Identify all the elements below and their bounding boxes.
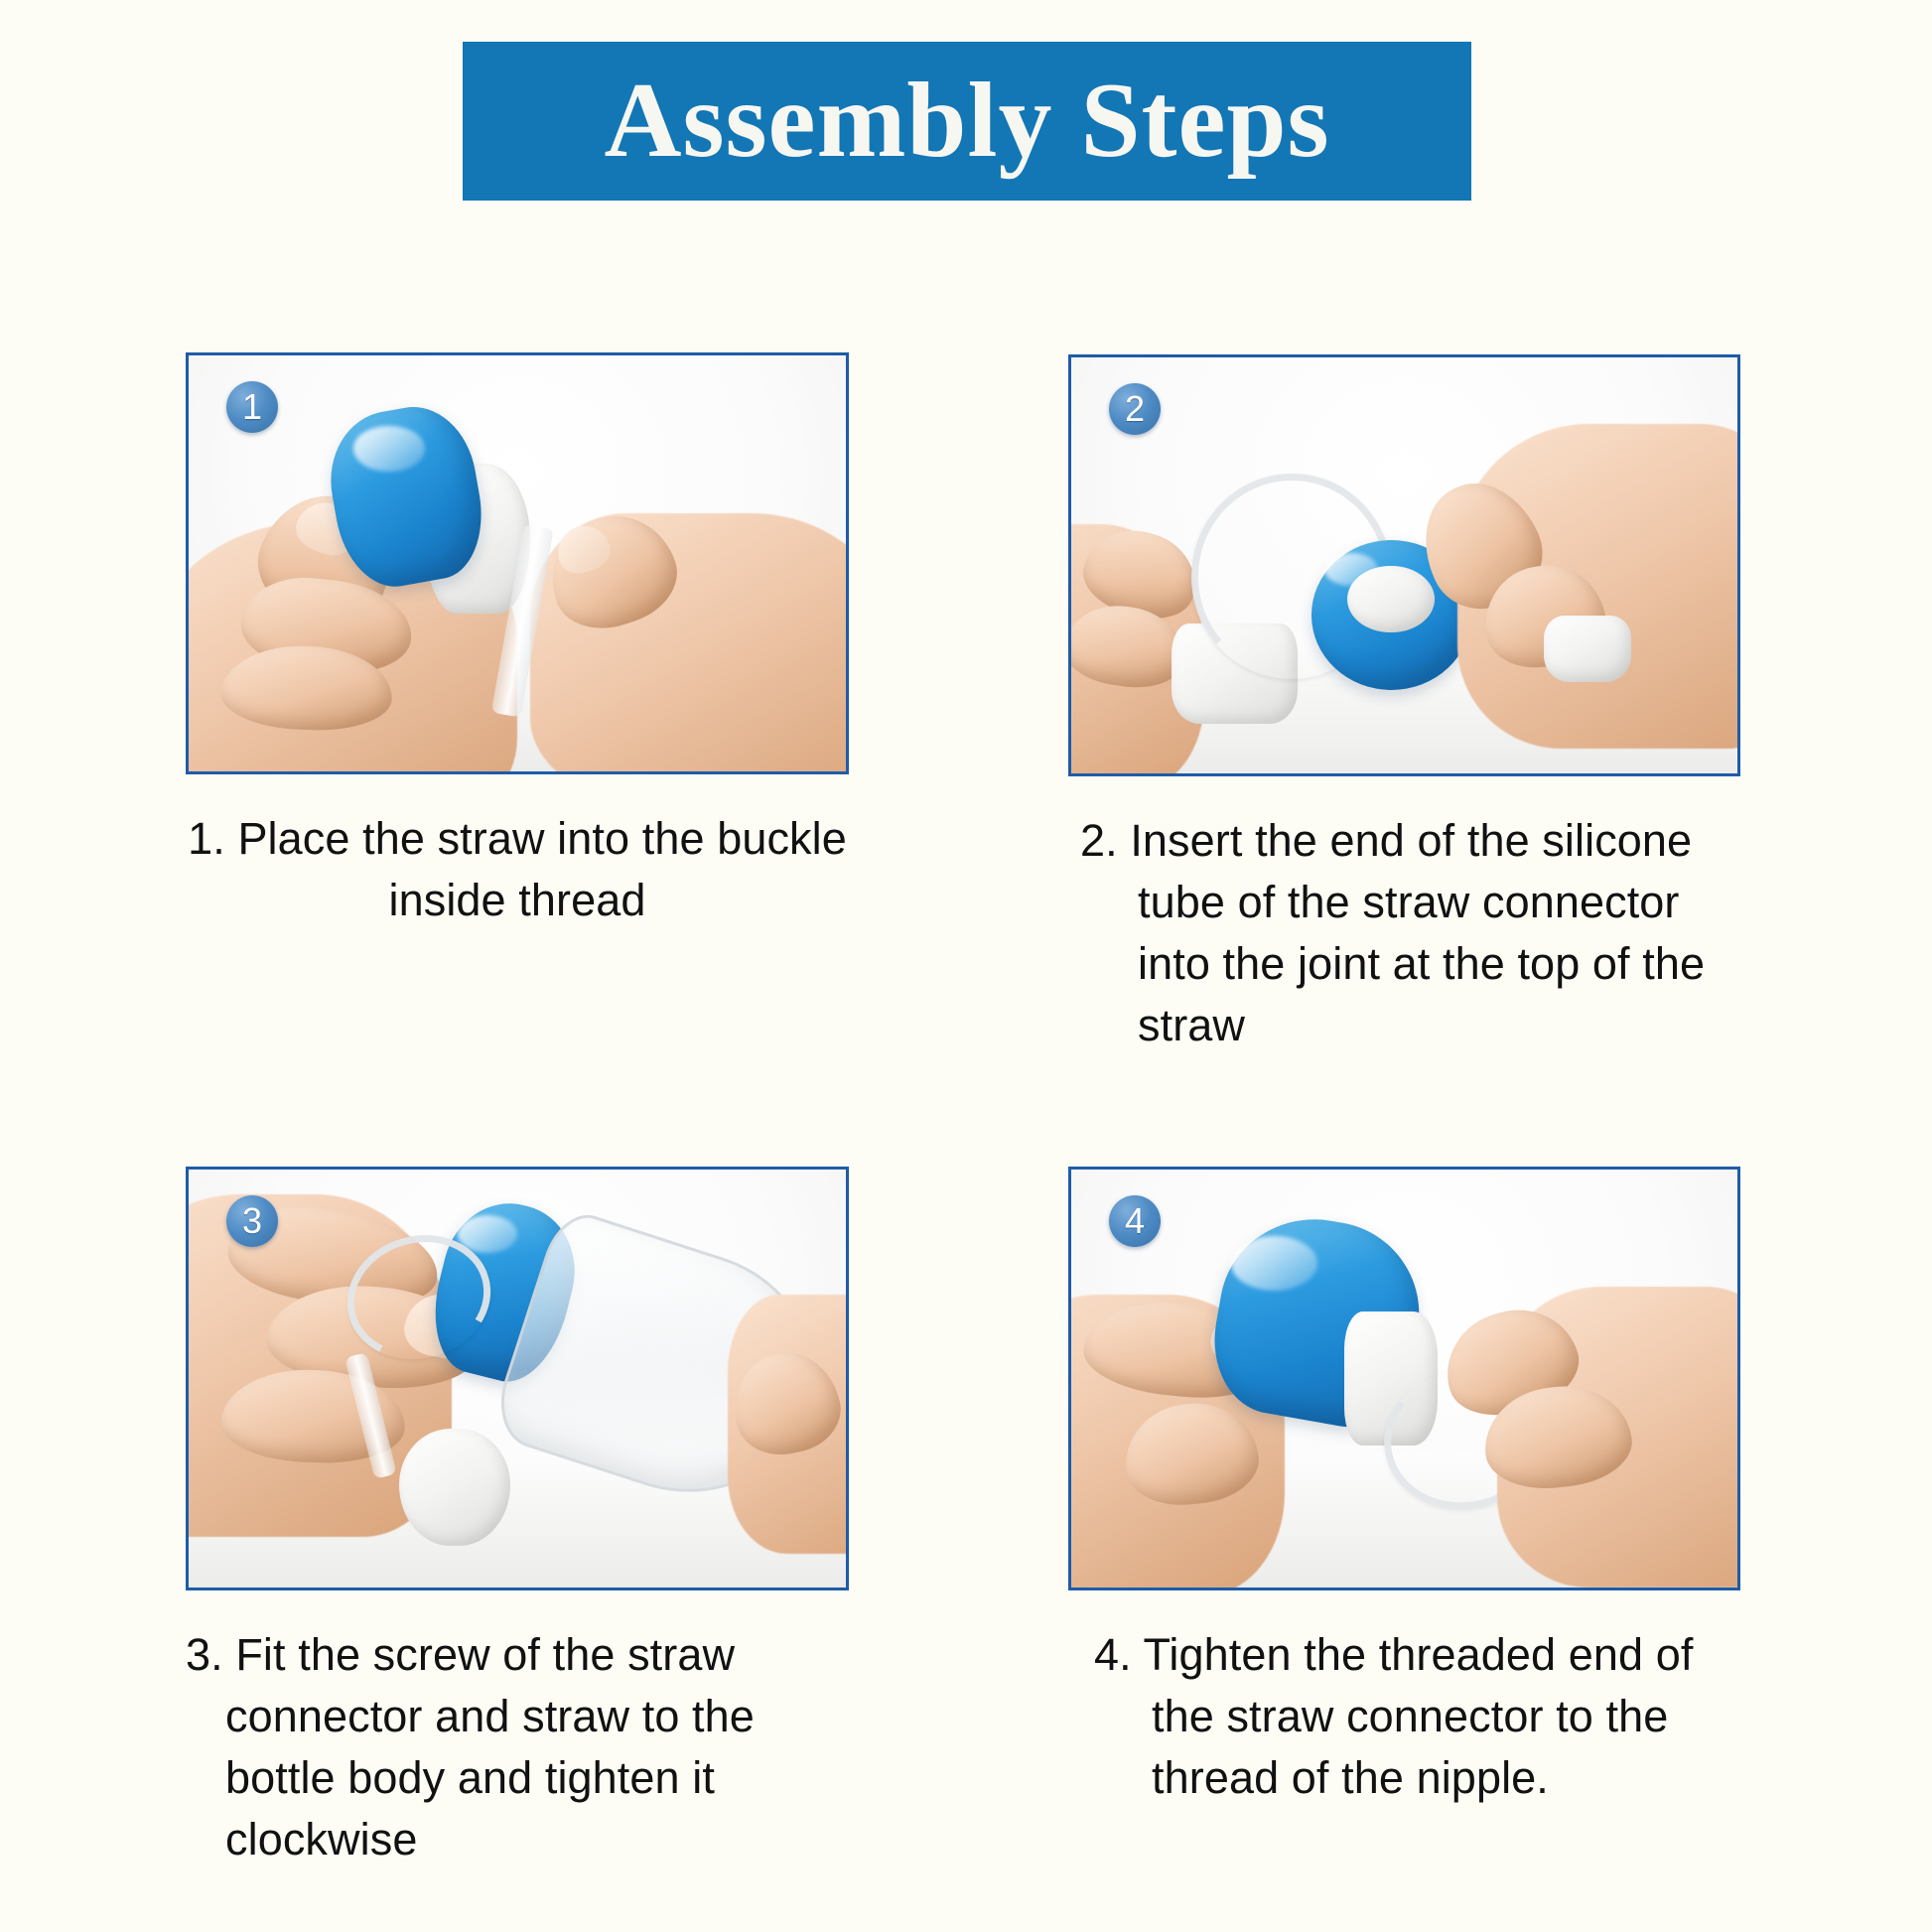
white-cap-right: [1544, 616, 1630, 682]
step-number-badge-3: 3: [226, 1195, 278, 1247]
step-number-badge-4: 4: [1109, 1195, 1161, 1247]
step-caption-3: 3. Fit the screw of the straw connector …: [186, 1624, 849, 1870]
step-card-4: 4 4. Tighten the threaded end of the str…: [1068, 1167, 1740, 1809]
cap-highlight: [1231, 1236, 1317, 1291]
step-card-1: 1 1. Place the straw into the buckle ins…: [186, 352, 849, 931]
step-card-3: 3 3. Fit the screw of the straw connecto…: [186, 1167, 849, 1870]
step-photo-4: 4: [1068, 1167, 1740, 1590]
step-number-4: 4: [1125, 1203, 1145, 1239]
steps-grid: 1 1. Place the straw into the buckle ins…: [0, 0, 1932, 1932]
step-number-2: 2: [1125, 391, 1145, 427]
white-screw-cap: [399, 1429, 511, 1546]
step-caption-4: 4. Tighten the threaded end of the straw…: [1068, 1624, 1740, 1809]
step-caption-1: 1. Place the straw into the buckle insid…: [186, 808, 849, 931]
step-caption-2: 2. Insert the end of the silicone tube o…: [1068, 810, 1740, 1056]
connector-highlight: [1324, 553, 1378, 587]
step-number-badge-2: 2: [1109, 383, 1161, 435]
step-card-2: 2 2. Insert the end of the silicone tube…: [1068, 354, 1740, 1056]
step-photo-3: 3: [186, 1167, 849, 1590]
step-number-1: 1: [242, 389, 262, 425]
photo-scene-3: [189, 1170, 846, 1587]
photo-scene-2: [1071, 357, 1737, 773]
step-photo-1: 1: [186, 352, 849, 774]
step-number-badge-1: 1: [226, 381, 278, 433]
step-photo-2: 2: [1068, 354, 1740, 776]
step-number-3: 3: [242, 1203, 262, 1239]
photo-scene-1: [189, 355, 846, 771]
photo-scene-4: [1071, 1170, 1737, 1587]
